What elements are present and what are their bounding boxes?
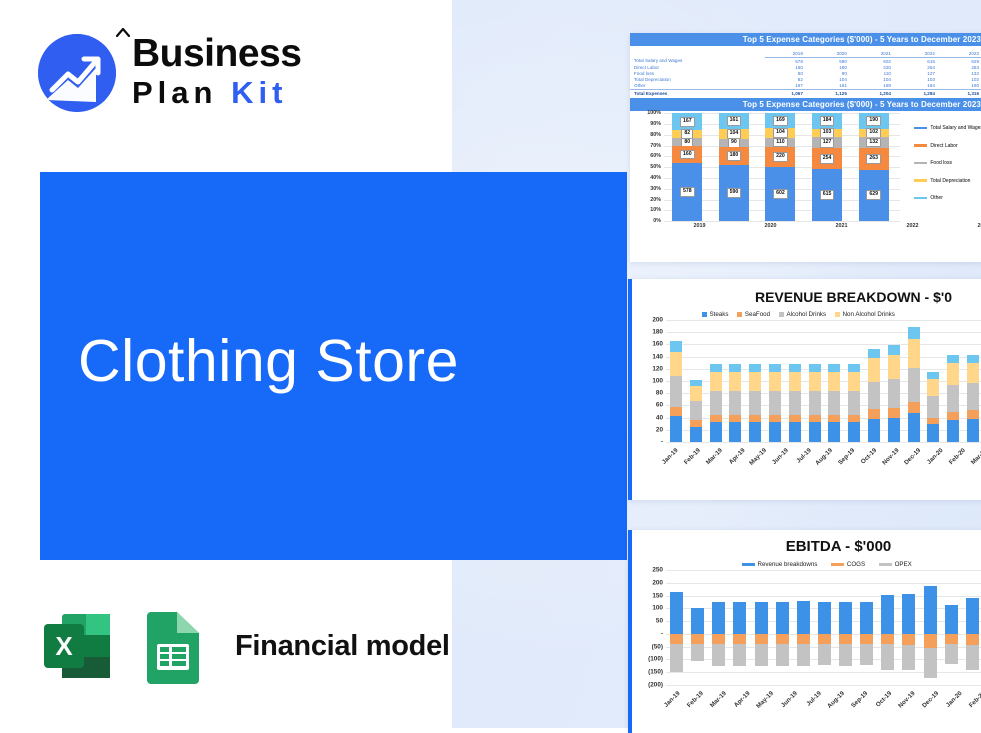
legend-item: Total Depreciation (914, 178, 981, 184)
bar-segment (927, 372, 939, 379)
bar-segment: 590 (719, 165, 749, 222)
x-axis-label: Jan-20 (945, 690, 964, 709)
bar-segment: 169 (765, 113, 795, 128)
bar-data-label: 590 (727, 188, 742, 198)
x-axis-label: 2020 (756, 223, 786, 229)
y-axis-tick: 30% (650, 186, 661, 192)
bar-segment: 254 (812, 148, 842, 169)
legend-swatch (835, 312, 840, 317)
y-axis-tick: 150 (652, 592, 663, 599)
legend-item: Direct Labor (914, 143, 981, 149)
bar-segment (967, 383, 979, 410)
bar-segment: 263 (859, 148, 889, 170)
svg-text:X: X (55, 631, 73, 661)
bar-segment (710, 372, 722, 392)
bar-segment (789, 364, 801, 372)
legend-swatch (737, 312, 742, 317)
bar-segment (809, 415, 821, 422)
bar-data-label: 161 (727, 116, 742, 126)
x-axis-label: Sep-19 (837, 447, 856, 466)
x-axis-label: Jun-19 (780, 690, 799, 709)
ebitda-chart-title: EBITDA - $'000 (632, 538, 981, 555)
table-row-label: Total Salary and Wages (630, 58, 765, 65)
legend-swatch (702, 312, 707, 317)
bar-segment (670, 352, 682, 376)
bar-segment (947, 355, 959, 364)
table-cell: 1,316 (941, 89, 981, 96)
bar-segment (927, 424, 939, 442)
file-format-row: X Financial model (40, 608, 450, 684)
stacked-bar (947, 320, 959, 442)
y-axis-tick: 20 (656, 426, 663, 433)
bar-segment: 110 (765, 138, 795, 148)
revenue-chart-legend: SteaksSeaFoodAlcohol DrinksNon Alcohol D… (632, 311, 981, 318)
legend-label: Alcohol Drinks (787, 311, 827, 318)
bar-data-label: 110 (773, 138, 787, 148)
y-axis-tick: 60% (650, 153, 661, 159)
bar-segment (670, 376, 682, 407)
stacked-bar (670, 320, 682, 442)
bar-data-label: 254 (820, 154, 835, 164)
bar-data-label: 615 (820, 190, 835, 200)
x-axis-label: Nov-19 (881, 447, 901, 467)
table-cell: 1,284 (897, 89, 941, 96)
bar-data-label: 104 (773, 128, 788, 138)
y-axis-tick: 70% (650, 143, 661, 149)
x-axis-label: Feb-19 (683, 447, 702, 466)
bar-segment (710, 364, 722, 372)
bar-segment (749, 364, 761, 372)
x-axis-label: Jan-19 (662, 690, 681, 709)
table-row-label: Total Expenses (630, 89, 765, 96)
table-cell: 615 (897, 58, 941, 65)
y-axis: 0%10%20%30%40%50%60%70%80%90%100% (630, 113, 664, 221)
x-axis-label: 2021 (827, 223, 857, 229)
bar-segment: 629 (859, 170, 889, 222)
y-axis-tick: (200) (648, 682, 663, 689)
table-row: Total Salary and Wages578590602615629 (630, 58, 981, 65)
bar-segment (927, 418, 939, 425)
y-axis-tick: 40% (650, 175, 661, 181)
bar-data-label: 190 (866, 116, 881, 126)
table-col-header: 2022 (897, 50, 941, 58)
bar-segment (789, 391, 801, 415)
bar-segment (828, 415, 840, 422)
y-axis-tick: 100 (652, 605, 663, 612)
stacked-bar: 16110490180590 (719, 113, 749, 221)
google-sheets-icon (141, 608, 205, 684)
bar-data-label: 127 (820, 138, 835, 148)
bar-segment (947, 363, 959, 385)
x-axis-label: Dec-19 (903, 447, 922, 466)
bar-segment: 180 (719, 147, 749, 164)
legend-label: Revenue breakdowns (758, 561, 818, 568)
x-axis-label: Oct-19 (874, 690, 893, 709)
bar-segment: 104 (765, 128, 795, 137)
bar-data-label: 578 (680, 187, 695, 197)
expense-categories-card[interactable]: Top 5 Expense Categories ($'000) - 5 Yea… (630, 33, 981, 262)
bar-segment (848, 422, 860, 442)
bar-data-label: 169 (773, 116, 788, 126)
stacked-bar (729, 320, 741, 442)
bar-segment (947, 412, 959, 421)
legend-item: Total Salary and Wages (914, 125, 981, 131)
legend-swatch (914, 127, 927, 130)
table-cell: 190 (941, 83, 981, 90)
x-axis-label: Apr-19 (727, 447, 746, 466)
y-axis-tick: (50) (652, 643, 663, 650)
x-axis-label: Aug-19 (815, 447, 835, 467)
bar-segment (888, 355, 900, 379)
bar-segment (848, 364, 860, 372)
bar-segment: 184 (812, 113, 842, 128)
x-axis-label: Jan-20 (926, 447, 945, 466)
bar-segment (710, 391, 722, 415)
x-axis-label: Jan-19 (661, 447, 680, 466)
x-axis-label: 2023 (969, 223, 981, 229)
x-axis-label: May-19 (748, 447, 768, 467)
bar-segment (769, 422, 781, 442)
bar-segment (967, 419, 979, 442)
bar-segment (690, 386, 702, 401)
legend-swatch (914, 144, 927, 147)
y-axis-tick: 140 (652, 353, 663, 360)
bar-segment (908, 327, 920, 339)
legend-item: COGS (831, 561, 865, 568)
y-axis-tick: 120 (652, 365, 663, 372)
bar-segment: 80 (672, 138, 702, 146)
expense-chart-legend: Total Salary and WagesDirect LaborFood l… (914, 125, 981, 201)
x-axis-label: 2019 (685, 223, 715, 229)
bar-data-label: 132 (866, 138, 881, 148)
table-col-header: 2020 (809, 50, 853, 58)
bar-segment (868, 358, 880, 381)
table-col-header: 2023 (941, 50, 981, 58)
stacked-bar (868, 320, 880, 442)
x-axis-label: Mar-20 (970, 447, 981, 466)
stacked-bar: 1678280160578 (672, 113, 702, 221)
legend-label: OPEX (895, 561, 912, 568)
bar-segment (729, 415, 741, 422)
bar-segment (729, 391, 741, 415)
y-axis-tick: 60 (656, 402, 663, 409)
bar-segment: 220 (765, 147, 795, 167)
bar-segment (947, 385, 959, 411)
bar-segment (908, 402, 920, 414)
table-cell: 167 (765, 83, 809, 90)
stacked-bar (809, 320, 821, 442)
bar-segment (908, 339, 920, 368)
bar-segment (769, 415, 781, 422)
ebitda-chart-legend: Revenue breakdownsCOGSOPEX (632, 561, 981, 568)
y-axis-tick: 50% (650, 164, 661, 170)
y-axis-tick: 50 (656, 618, 663, 625)
stacked-bar (769, 320, 781, 442)
bar-segment (888, 418, 900, 442)
table-col-header (630, 50, 765, 58)
table-cell: 161 (809, 83, 853, 90)
stacked-bar (749, 320, 761, 442)
expense-chart-title: Top 5 Expense Categories ($'000) - 5 Yea… (630, 98, 981, 111)
bar-segment (908, 368, 920, 402)
bar-segment: 167 (672, 113, 702, 130)
bar-segment (967, 410, 979, 419)
expense-table: 20192020202120222023 Total Salary and Wa… (630, 50, 981, 96)
bar-segment (670, 341, 682, 351)
gridline (664, 221, 900, 222)
x-axis-label: May-19 (756, 690, 776, 710)
x-axis-label: Jul-19 (795, 447, 813, 465)
bar-segment (749, 422, 761, 442)
bar-segment (670, 407, 682, 416)
bar-segment (927, 396, 939, 417)
bar-segment (888, 379, 900, 408)
bar-segment (848, 391, 860, 415)
expense-stacked-bar-chart: 0%10%20%30%40%50%60%70%80%90%100%1678280… (630, 113, 981, 229)
y-axis-tick: - (661, 439, 663, 446)
revenue-chart-title: REVENUE BREAKDOWN - $'0 (632, 289, 981, 305)
bar-segment (868, 349, 880, 359)
y-axis-tick: 80 (656, 390, 663, 397)
bar-segment: 602 (765, 167, 795, 221)
bar-segment (690, 401, 702, 420)
microsoft-excel-icon: X (40, 608, 116, 684)
x-axis-label: Jul-19 (805, 690, 823, 708)
legend-label: Total Depreciation (930, 178, 970, 184)
gridline (666, 442, 981, 443)
bar-segment (749, 415, 761, 422)
x-axis-label: Dec-19 (921, 690, 940, 709)
stacked-bar (710, 320, 722, 442)
x-axis-label: Feb-19 (686, 690, 705, 709)
bar-data-label: 167 (680, 117, 695, 127)
y-axis-tick: 20% (650, 197, 661, 203)
bar-segment (749, 391, 761, 415)
x-axis-label: Feb-20 (948, 447, 967, 466)
table-row-label: Other (630, 83, 765, 90)
x-axis-label: Sep-19 (850, 690, 869, 709)
y-axis-tick: 90% (650, 121, 661, 127)
legend-label: Direct Labor (930, 143, 957, 149)
bar-segment (729, 364, 741, 372)
table-cell: 169 (853, 83, 897, 90)
x-axis-label: Nov-19 (897, 690, 917, 710)
bar-segment (828, 422, 840, 442)
stacked-bar (967, 320, 979, 442)
bar-segment: 190 (859, 113, 889, 129)
bar-segment (710, 422, 722, 442)
legend-label: Food loss (930, 160, 952, 166)
table-cell: 590 (809, 58, 853, 65)
y-axis-tick: 180 (652, 329, 663, 336)
bar-data-label: 220 (773, 152, 788, 162)
y-axis-tick: 250 (652, 567, 663, 574)
bar-data-label: 180 (727, 151, 742, 161)
table-cell: 1,067 (765, 89, 809, 96)
brand-logo: Business Plan Kit (38, 34, 301, 112)
logo-text-business: Business (132, 34, 301, 73)
bar-segment: 90 (719, 139, 749, 148)
table-col-header: 2021 (853, 50, 897, 58)
bar-segment (809, 372, 821, 392)
revenue-breakdown-card[interactable]: REVENUE BREAKDOWN - $'0 SteaksSeaFoodAlc… (628, 279, 981, 500)
bar-data-label: 602 (773, 189, 788, 199)
stacked-bar: 184103127254615 (812, 113, 842, 221)
bar-segment (809, 391, 821, 415)
table-row: Other167161169184190 (630, 83, 981, 90)
legend-swatch (742, 563, 755, 566)
stacked-bar (927, 320, 939, 442)
bar-segment (927, 379, 939, 397)
stacked-bar: 169104110220602 (765, 113, 795, 221)
bar-segment (868, 382, 880, 409)
legend-item: Food loss (914, 160, 981, 166)
table-cell: 578 (765, 58, 809, 65)
y-axis-tick: 200 (652, 317, 663, 324)
y-axis-tick: 100% (647, 110, 661, 116)
table-cell: 629 (941, 58, 981, 65)
x-axis-label: Apr-19 (733, 690, 752, 709)
bar-data-label: 160 (680, 150, 695, 160)
bar-data-label: 263 (866, 154, 881, 164)
x-axis-label: 2022 (898, 223, 928, 229)
bar-segment (828, 391, 840, 415)
bar-segment (967, 355, 979, 364)
y-axis-tick: 10% (650, 207, 661, 213)
legend-swatch (879, 563, 892, 566)
stacked-bar (848, 320, 860, 442)
x-axis-label: Feb-20 (968, 690, 981, 709)
table-header-row: 20192020202120222023 (630, 50, 981, 58)
page-title: Clothing Store (78, 327, 459, 395)
logo-caret-accent (116, 28, 130, 37)
bar-segment (729, 372, 741, 392)
bar-segment (690, 427, 702, 442)
bar-segment (789, 422, 801, 442)
x-axis-label: Jun-19 (771, 447, 790, 466)
growth-arrow-chart-icon (38, 34, 116, 112)
bar-segment (848, 372, 860, 392)
legend-item: Non Alcohol Drinks (835, 311, 895, 318)
legend-item: Steaks (702, 311, 728, 318)
ebitda-stacked-bar-chart: 25020015010050-(50)(100)(150)(200) Jan-1… (632, 570, 981, 716)
bar-segment (967, 363, 979, 383)
logo-text-plan: Plan (132, 75, 217, 110)
bar-segment (888, 408, 900, 418)
legend-label: SeaFood (745, 311, 770, 318)
bar-segment (828, 364, 840, 372)
bar-segment (947, 420, 959, 442)
table-cell: 602 (853, 58, 897, 65)
bar-segment (828, 372, 840, 392)
x-axis-label: Oct-19 (860, 447, 879, 466)
bar-segment (868, 419, 880, 442)
stacked-bar: 190102132263629 (859, 113, 889, 221)
legend-item: SeaFood (737, 311, 770, 318)
bar-segment: 161 (719, 113, 749, 128)
y-axis-tick: 200 (652, 579, 663, 586)
y-axis: -20406080100120140160180200 (632, 320, 666, 442)
legend-swatch (914, 179, 927, 182)
bar-segment (809, 364, 821, 372)
y-axis-tick: 160 (652, 341, 663, 348)
y-axis-tick: 40 (656, 414, 663, 421)
logo-text-kit: Kit (231, 75, 287, 110)
bar-group (666, 320, 981, 442)
bar-data-label: 629 (866, 190, 881, 200)
legend-label: Steaks (710, 311, 729, 318)
stacked-bar (888, 320, 900, 442)
bar-segment: 102 (859, 129, 889, 137)
bar-segment (749, 372, 761, 392)
y-axis: 25020015010050-(50)(100)(150)(200) (632, 570, 666, 685)
y-axis-tick: (100) (648, 656, 663, 663)
bar-segment (769, 391, 781, 415)
bar-segment (848, 415, 860, 422)
bar-segment (710, 415, 722, 422)
bar-segment (789, 372, 801, 392)
bar-segment: 578 (672, 163, 702, 222)
bar-segment (690, 420, 702, 427)
legend-item: Alcohol Drinks (779, 311, 826, 318)
legend-label: Other (930, 195, 943, 201)
stacked-bar (690, 320, 702, 442)
bar-segment: 127 (812, 137, 842, 148)
legend-label: Total Salary and Wages (930, 125, 981, 131)
legend-swatch (914, 197, 927, 200)
bar-segment: 103 (812, 129, 842, 138)
legend-swatch (914, 162, 927, 165)
legend-item: Other (914, 195, 981, 201)
table-cell: 1,204 (853, 89, 897, 96)
bar-segment (868, 409, 880, 419)
legend-swatch (779, 312, 784, 317)
y-axis-tick: 0% (653, 218, 661, 224)
bar-segment (670, 416, 682, 442)
table-cell: 184 (897, 83, 941, 90)
bar-segment (769, 364, 781, 372)
bar-segment (809, 422, 821, 442)
stacked-bar (908, 320, 920, 442)
bar-data-label: 184 (820, 116, 835, 126)
bar-segment: 615 (812, 169, 842, 221)
table-cell: 1,125 (809, 89, 853, 96)
table-row: Total Expenses1,0671,1251,2041,2841,316 (630, 89, 981, 96)
y-axis-tick: (150) (648, 669, 663, 676)
revenue-stacked-bar-chart: -20406080100120140160180200 Jan-19Feb-19… (632, 320, 981, 479)
legend-item: Revenue breakdowns (742, 561, 817, 568)
bar-segment (729, 422, 741, 442)
y-axis-tick: 100 (652, 378, 663, 385)
financial-model-label: Financial model (235, 630, 450, 663)
legend-label: COGS (847, 561, 865, 568)
table-col-header: 2019 (765, 50, 809, 58)
bar-group: 1678280160578161104901805901691041102206… (664, 113, 897, 221)
legend-label: Non Alcohol Drinks (843, 311, 895, 318)
expense-table-title: Top 5 Expense Categories ($'000) - 5 Yea… (630, 33, 981, 46)
bar-data-label: 104 (727, 129, 742, 139)
bar-segment (908, 413, 920, 442)
bar-segment: 132 (859, 137, 889, 148)
stacked-bar (828, 320, 840, 442)
bar-segment (789, 415, 801, 422)
bar-segment: 160 (672, 146, 702, 162)
bar-segment (769, 372, 781, 392)
x-axis-label: Mar-19 (705, 447, 724, 466)
y-axis-tick: - (661, 630, 663, 637)
ebitda-card[interactable]: EBITDA - $'000 Revenue breakdownsCOGSOPE… (628, 530, 981, 733)
bar-segment (888, 345, 900, 355)
